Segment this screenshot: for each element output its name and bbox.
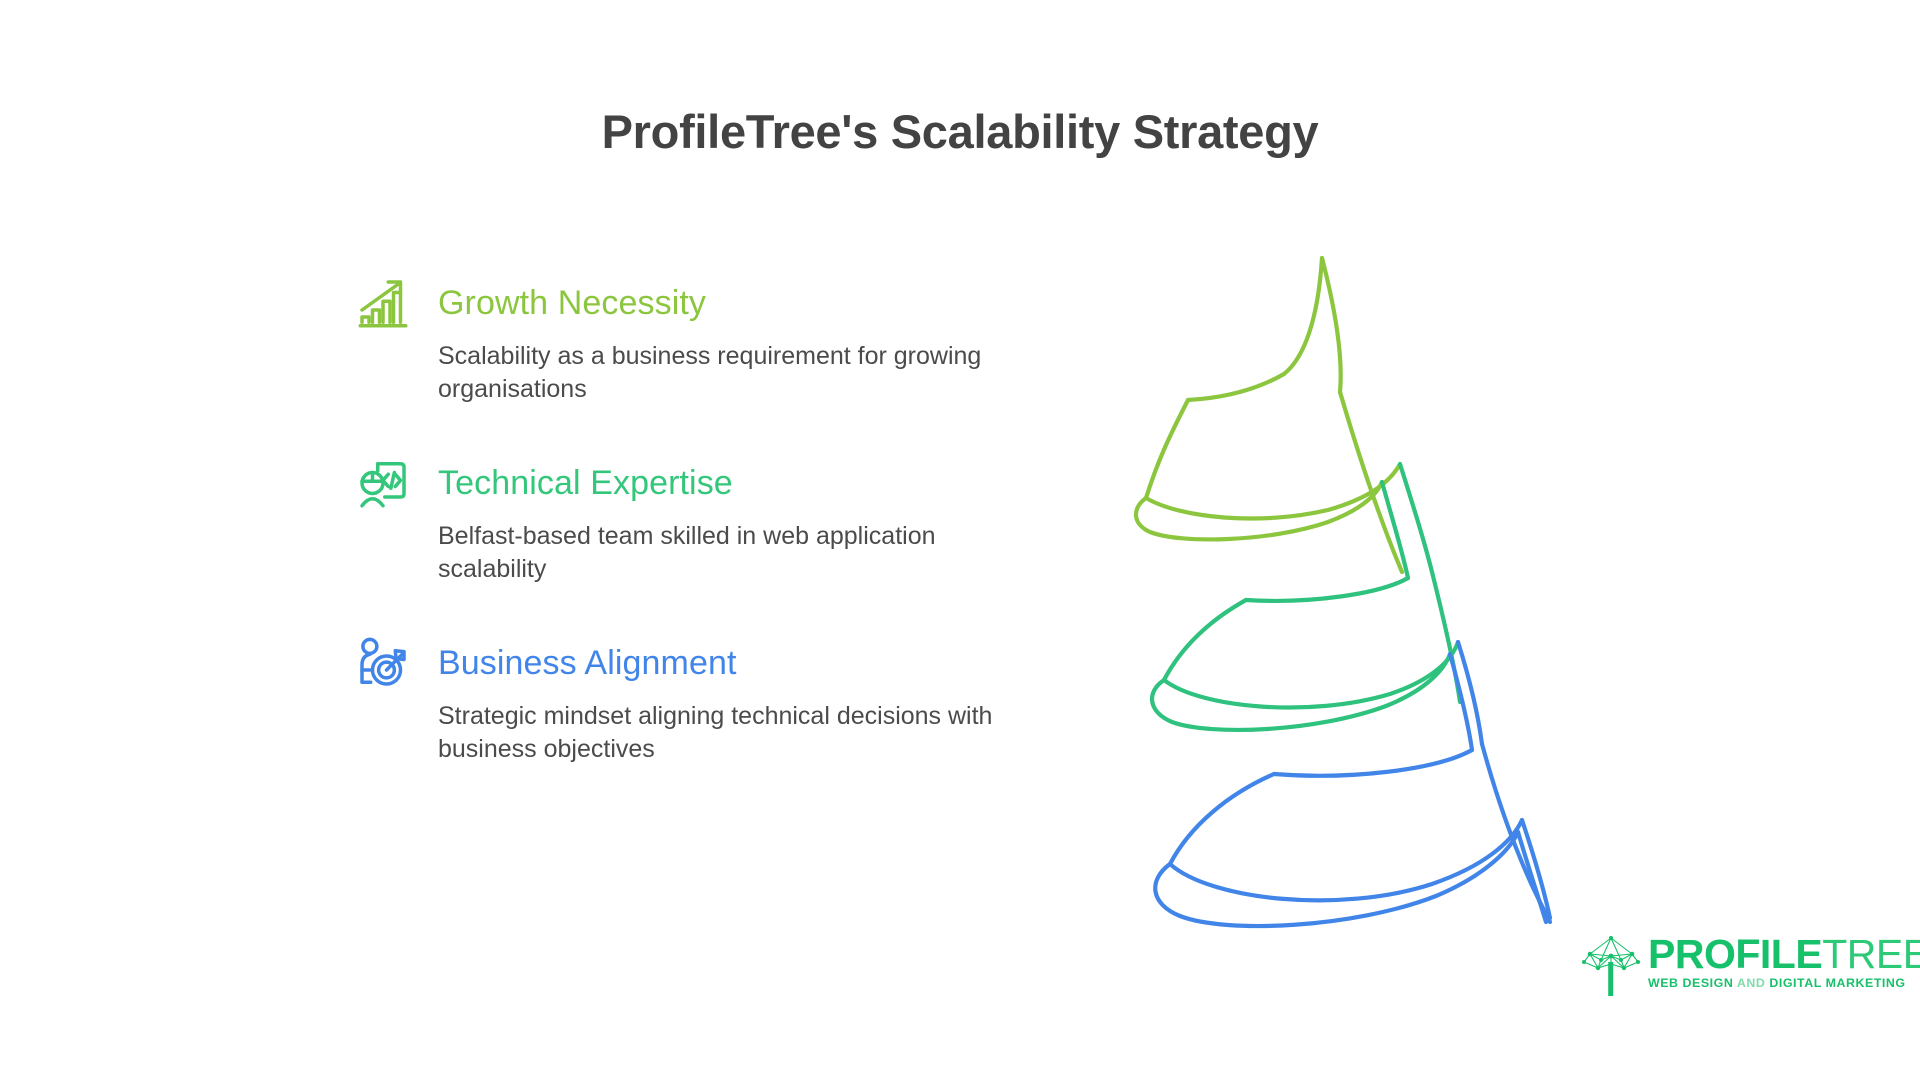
logo-tagline: WEB DESIGN AND DIGITAL MARKETING [1648, 976, 1906, 990]
feature-title: Business Alignment [438, 646, 737, 680]
profiletree-logo: PROFILETREE WEB DESIGN AND DIGITAL MARKE… [1578, 928, 1888, 1010]
tagline-and: AND [1737, 976, 1766, 990]
profiletree-network-tree-icon [1578, 928, 1644, 1000]
growth-chart-arrow-icon [352, 272, 414, 334]
feature-item-technical-expertise: Technical Expertise Belfast-based team s… [352, 452, 1072, 586]
feature-list: Growth Necessity Scalability as a busine… [352, 272, 1072, 766]
feature-title: Technical Expertise [438, 466, 733, 500]
feature-description: Strategic mindset aligning technical dec… [438, 700, 1038, 766]
spiral-cone-graphic [1060, 250, 1620, 950]
spiral-segment-middle [1152, 464, 1460, 730]
tagline-part-1: WEB DESIGN [1648, 976, 1737, 990]
logo-wordmark: PROFILETREE [1648, 931, 1920, 977]
logo-word-tree: TREE [1822, 931, 1920, 977]
spiral-segment-top [1136, 258, 1402, 572]
tagline-part-2: DIGITAL MARKETING [1765, 976, 1905, 990]
feature-header: Business Alignment [352, 632, 1072, 694]
feature-header: Growth Necessity [352, 272, 1072, 334]
feature-item-growth-necessity: Growth Necessity Scalability as a busine… [352, 272, 1072, 406]
logo-word-profile: PROFILE [1648, 931, 1822, 977]
page-title: ProfileTree's Scalability Strategy [0, 104, 1920, 159]
feature-title: Growth Necessity [438, 286, 706, 320]
feature-description: Scalability as a business requirement fo… [438, 340, 1038, 406]
feature-description: Belfast-based team skilled in web applic… [438, 520, 1038, 586]
person-target-icon [352, 632, 414, 694]
feature-item-business-alignment: Business Alignment Strategic mindset ali… [352, 632, 1072, 766]
developer-code-icon [352, 452, 414, 514]
spiral-segment-bottom [1155, 642, 1550, 926]
feature-header: Technical Expertise [352, 452, 1072, 514]
slide-canvas: ProfileTree's Scalability Strategy G [0, 0, 1920, 1080]
logo-text-block: PROFILETREE WEB DESIGN AND DIGITAL MARKE… [1648, 928, 1920, 992]
